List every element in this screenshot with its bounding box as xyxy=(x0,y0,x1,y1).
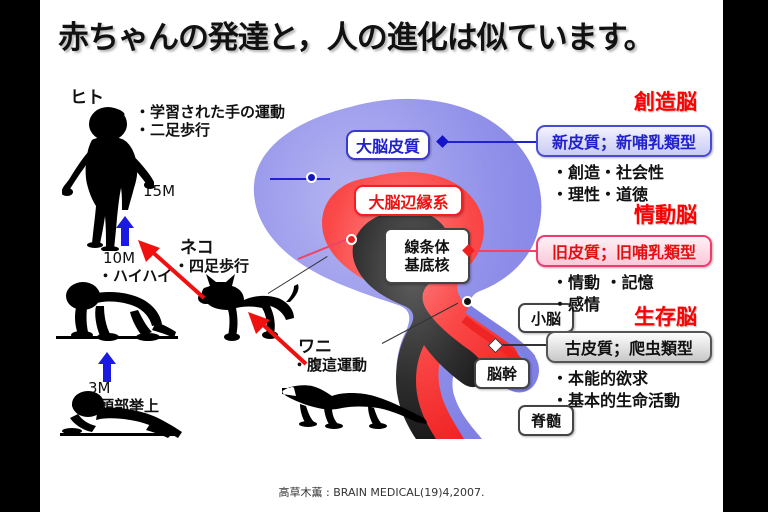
heading-creative-brain: 創造脳 xyxy=(634,86,697,116)
label-limbic-system-text: 大脳辺縁系 xyxy=(368,189,448,213)
box-paleocortex-old-mammalian: 旧皮質；旧哺乳類型 xyxy=(536,235,712,267)
arrow-evolution-croc-to-cat xyxy=(248,312,310,372)
leader-dot-striatum xyxy=(462,296,473,307)
label-spinal-cord-text: 脊髄 xyxy=(531,410,561,431)
label-cerebral-cortex-text: 大脳皮質 xyxy=(356,133,420,157)
label-striatum-text: 線条体 基底核 xyxy=(404,238,449,274)
label-limbic-system: 大脳辺縁系 xyxy=(354,185,463,216)
box-paleocortex-old-mammalian-text: 旧皮質；旧哺乳類型 xyxy=(552,239,696,263)
heading-survival-brain: 生存脳 xyxy=(634,301,697,331)
box-neocortex-text: 新皮質；新哺乳類型 xyxy=(552,129,696,153)
arrow-evolution-cat-to-human xyxy=(138,240,208,306)
silhouette-baby-prone xyxy=(58,390,184,440)
source-citation: 高草木薫 : BRAIN MEDICAL(19)4,2007. xyxy=(40,484,723,500)
label-brainstem: 脳幹 xyxy=(474,358,530,389)
bullets-survival-brain: ・本能的欲求 ・基本的生命活動 xyxy=(552,368,680,411)
page-title: 赤ちゃんの発達と，人の進化は似ています。 xyxy=(58,12,708,57)
leader-cortex-left xyxy=(270,178,330,180)
silhouette-toddler-standing xyxy=(62,106,154,251)
label-brainstem-text: 脳幹 xyxy=(487,363,517,384)
box-archicortex-reptilian-text: 古皮質；爬虫類型 xyxy=(565,335,693,359)
box-archicortex-reptilian: 古皮質；爬虫類型 xyxy=(546,331,712,363)
leader-dot-cortex-left xyxy=(306,172,317,183)
label-cerebral-cortex: 大脳皮質 xyxy=(346,130,430,160)
heading-emotional-brain: 情動脳 xyxy=(634,199,697,229)
slide-canvas: 赤ちゃんの発達と，人の進化は似ています。 xyxy=(40,0,723,512)
arrow-up-to-15m xyxy=(116,216,134,250)
age-label-10m: 10M xyxy=(103,250,135,268)
slide-root: 赤ちゃんの発達と，人の進化は似ています。 xyxy=(0,0,768,512)
bullets-human: ・学習された手の運動 ・二足歩行 xyxy=(135,104,285,139)
leader-dot-limbic-left xyxy=(346,234,357,245)
label-striatum-basal-ganglia: 線条体 基底核 xyxy=(384,228,470,284)
silhouette-crocodile xyxy=(280,378,428,430)
box-neocortex: 新皮質；新哺乳類型 xyxy=(536,125,712,157)
